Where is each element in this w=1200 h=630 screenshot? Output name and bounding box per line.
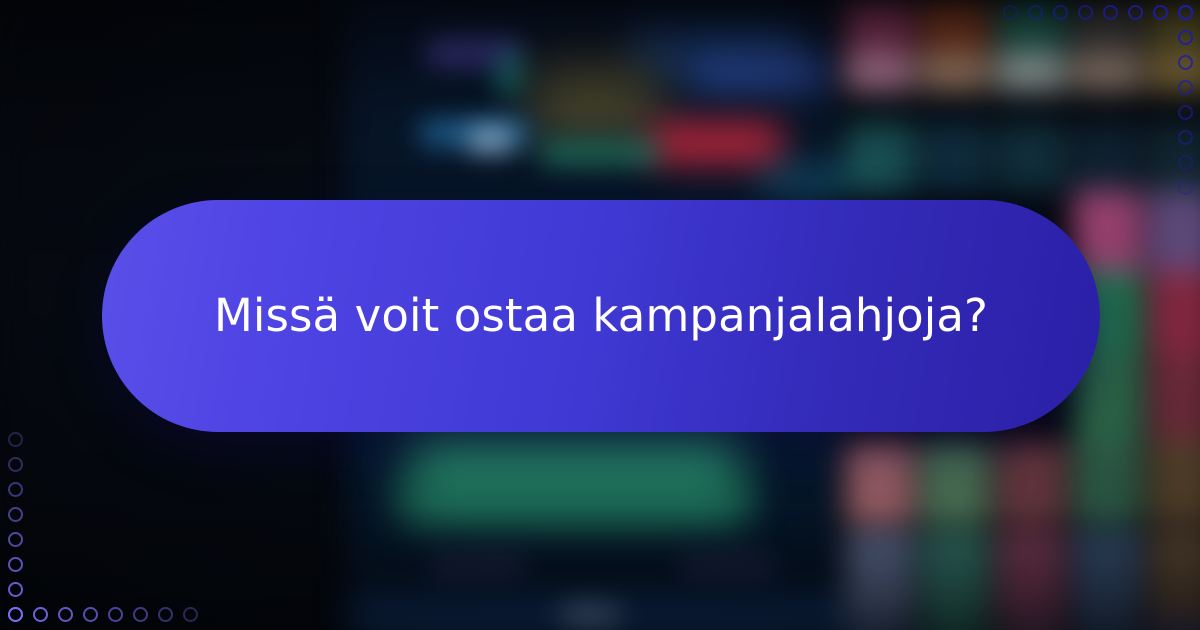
grid-cell xyxy=(1149,48,1200,90)
grid-cell xyxy=(921,618,991,630)
question-card: Missä voit ostaa kampanjalahjoja? xyxy=(102,200,1100,432)
grid-cell xyxy=(1073,618,1143,630)
navy-button-right xyxy=(680,554,775,580)
blue-tile xyxy=(690,50,830,90)
grid-cell xyxy=(997,532,1067,618)
grid-cell xyxy=(1149,122,1200,192)
taskbar-glint xyxy=(560,604,620,630)
grid-cell xyxy=(921,122,991,192)
olive-object xyxy=(530,56,660,142)
grid-cell xyxy=(1149,532,1200,618)
grid-cell xyxy=(997,618,1067,630)
teal-underline xyxy=(540,140,660,166)
teal-chip xyxy=(496,50,526,94)
green-panel-dark xyxy=(400,480,750,530)
grid-cell xyxy=(1149,190,1200,276)
grid-cell xyxy=(1073,122,1143,192)
grid-cell xyxy=(997,440,1067,526)
navy-button-left xyxy=(430,554,525,580)
grid-shelf-divider xyxy=(845,88,1200,122)
grid-cell xyxy=(1149,270,1200,356)
grid-cell xyxy=(1149,356,1200,442)
grid-cell xyxy=(921,48,991,90)
grid-cell xyxy=(921,440,991,526)
grid-cell xyxy=(1073,48,1143,90)
grid-cell xyxy=(845,618,915,630)
grid-cell xyxy=(1149,440,1200,526)
grid-cell xyxy=(845,532,915,618)
white-chip xyxy=(468,128,512,152)
grid-cell xyxy=(1073,440,1143,526)
grid-cell xyxy=(921,532,991,618)
grid-cell xyxy=(845,122,915,192)
grid-cell xyxy=(997,122,1067,192)
red-button xyxy=(650,122,782,164)
screenshot-canvas: Missä voit ostaa kampanjalahjoja? xyxy=(0,0,1200,630)
grid-cell xyxy=(997,48,1067,90)
question-text: Missä voit ostaa kampanjalahjoja? xyxy=(214,289,988,342)
grid-cell xyxy=(1073,532,1143,618)
grid-cell xyxy=(1149,618,1200,630)
grid-cell xyxy=(845,440,915,526)
grid-cell xyxy=(845,48,915,90)
